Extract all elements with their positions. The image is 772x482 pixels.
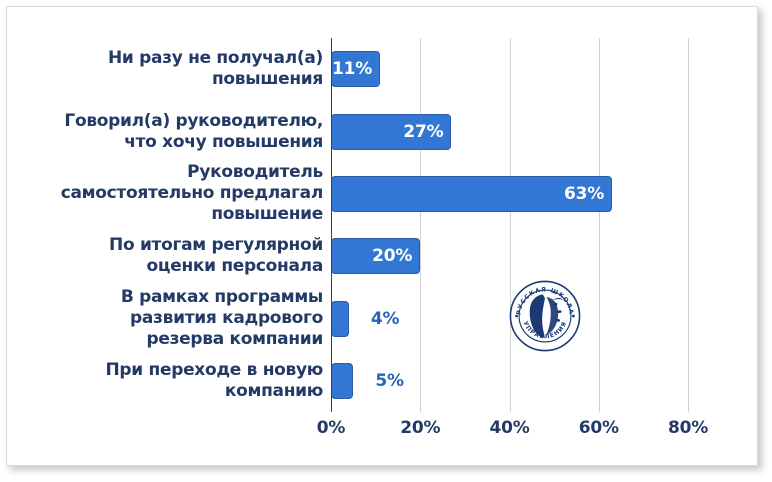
bar-value-label: 27% xyxy=(403,122,443,142)
category-label-line: самостоятельно предлагал xyxy=(40,183,323,204)
category-label-line: Говорил(а) руководителю, xyxy=(40,111,323,132)
value-axis-tick-label: 60% xyxy=(564,418,634,438)
bar-row[interactable]: 11% xyxy=(331,51,688,87)
category-label: В рамках программыразвития кадровогорезе… xyxy=(40,287,323,350)
category-label-line: компанию xyxy=(40,381,323,402)
category-label-line: резерва компании xyxy=(40,329,323,350)
image-frame: Ни разу не получал(а)повышения Говорил(а… xyxy=(0,0,772,482)
gridline xyxy=(420,38,421,412)
category-label-line: оценки персонала xyxy=(40,256,323,277)
bar-row[interactable]: 27% xyxy=(331,114,688,150)
bar[interactable] xyxy=(331,301,349,337)
category-label-line: В рамках программы xyxy=(40,287,323,308)
category-label: При переходе в новуюкомпанию xyxy=(40,360,323,402)
value-axis-tick-label: 20% xyxy=(385,418,455,438)
category-label-line: повышение xyxy=(40,204,323,225)
category-label-line: развития кадрового xyxy=(40,308,323,329)
russian-school-of-management-logo-icon: РУССКАЯ ШКОЛА УПРАВЛЕНИЯ xyxy=(509,280,581,352)
plot-area: 11%27%63%20%4%5% xyxy=(331,38,688,412)
category-label: Ни разу не получал(а)повышения xyxy=(40,48,323,90)
gridline xyxy=(599,38,600,412)
value-axis-tick-label: 80% xyxy=(653,418,723,438)
bar-value-label: 11% xyxy=(332,59,372,79)
category-label-line: При переходе в новую xyxy=(40,360,323,381)
category-label: По итогам регулярнойоценки персонала xyxy=(40,235,323,277)
gridline xyxy=(688,38,689,412)
bar-value-label: 20% xyxy=(372,246,412,266)
value-axis-tick-label: 0% xyxy=(296,418,366,438)
category-label-line: По итогам регулярной xyxy=(40,235,323,256)
category-label: Руководительсамостоятельно предлагалповы… xyxy=(40,162,323,225)
category-label: Говорил(а) руководителю,что хочу повышен… xyxy=(40,111,323,153)
svg-text:РУССКАЯ ШКОЛА: РУССКАЯ ШКОЛА xyxy=(515,286,574,315)
bar-value-label: 4% xyxy=(371,309,399,329)
chart-canvas: Ни разу не получал(а)повышения Говорил(а… xyxy=(0,0,772,482)
bar-row[interactable]: 63% xyxy=(331,176,688,212)
gridline xyxy=(510,38,511,412)
value-axis-tick-label: 40% xyxy=(475,418,545,438)
svg-text:УПРАВЛЕНИЯ: УПРАВЛЕНИЯ xyxy=(522,320,569,340)
bar-row[interactable]: 20% xyxy=(331,238,688,274)
category-label-line: Руководитель xyxy=(40,162,323,183)
bar-row[interactable]: 5% xyxy=(331,363,688,399)
bar-value-label: 63% xyxy=(564,184,604,204)
value-axis-line xyxy=(331,38,332,412)
category-label-line: что хочу повышения xyxy=(40,132,323,153)
bar-value-label: 5% xyxy=(375,371,403,391)
category-label-line: Ни разу не получал(а) xyxy=(40,48,323,69)
bar[interactable] xyxy=(331,363,353,399)
category-label-line: повышения xyxy=(40,69,323,90)
